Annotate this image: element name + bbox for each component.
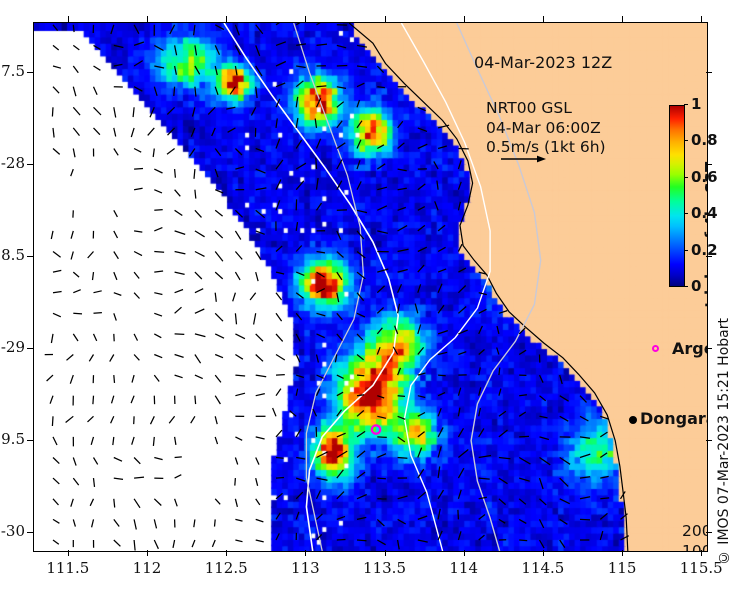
current-vector — [438, 305, 444, 313]
current-vector — [357, 451, 365, 458]
current-vector — [215, 293, 216, 302]
current-vector — [276, 430, 282, 437]
current-vector — [215, 519, 216, 526]
x-tick-4 — [385, 16, 386, 22]
current-vector — [357, 252, 365, 259]
current-vector — [167, 149, 175, 155]
current-vector — [296, 118, 298, 128]
current-vector — [357, 517, 366, 519]
current-vector — [175, 169, 176, 178]
current-vector — [357, 355, 364, 360]
current-vector — [357, 100, 360, 107]
current-vector — [114, 149, 118, 156]
current-vector — [600, 498, 609, 499]
x-tick-label-6: 114.5 — [513, 559, 573, 577]
current-vector — [296, 23, 304, 25]
current-vector — [317, 252, 326, 253]
colorbar-gradient — [669, 105, 685, 287]
current-vector — [296, 512, 299, 520]
current-vector — [276, 313, 282, 321]
current-vector — [316, 158, 317, 170]
current-vector — [89, 355, 93, 362]
current-vector — [215, 231, 223, 238]
current-vector — [458, 286, 465, 293]
current-vector — [438, 446, 441, 457]
current-vector — [580, 519, 590, 520]
current-vector — [317, 178, 319, 190]
current-vector — [438, 427, 443, 437]
current-vector — [418, 265, 424, 272]
current-vector — [195, 375, 203, 379]
current-vector — [479, 309, 487, 313]
current-vector — [540, 458, 551, 465]
current-vector — [215, 437, 217, 444]
current-vector — [296, 163, 306, 169]
current-vector — [377, 347, 380, 354]
current-vector — [212, 128, 216, 136]
current-vector — [479, 535, 485, 540]
current-vector — [276, 118, 277, 128]
current-vector — [154, 228, 162, 231]
current-vector — [192, 540, 195, 547]
current-vector — [479, 326, 483, 334]
current-vector — [73, 107, 80, 115]
current-vector — [154, 499, 161, 506]
current-vector — [175, 45, 177, 55]
current-vector — [418, 448, 422, 458]
current-vector — [317, 355, 319, 363]
current-vector — [73, 149, 75, 158]
current-vector — [296, 140, 301, 148]
current-vector — [398, 496, 408, 499]
current-vector — [195, 210, 202, 217]
current-vector — [580, 416, 588, 421]
current-vector — [398, 207, 406, 210]
x-tick-3 — [305, 550, 306, 556]
current-vector — [276, 83, 285, 87]
current-vector — [256, 272, 258, 281]
current-vector — [114, 540, 121, 546]
current-vector — [174, 87, 175, 96]
current-vector — [418, 492, 426, 499]
current-vector — [175, 457, 182, 458]
y-tick-label-1: -28 — [0, 154, 25, 172]
current-vector — [398, 437, 405, 442]
current-vector — [479, 350, 485, 355]
current-vector — [519, 519, 526, 523]
current-vector — [357, 160, 360, 169]
current-vector — [215, 334, 224, 338]
current-vector — [273, 408, 276, 416]
current-vector — [235, 272, 240, 280]
date-stamp-label: 04-Mar-2023 12Z — [474, 53, 612, 72]
current-vector — [499, 458, 511, 459]
current-vector — [256, 210, 265, 217]
current-vector — [94, 66, 101, 70]
current-vector — [337, 334, 343, 341]
current-vector — [458, 352, 466, 355]
current-vector — [256, 375, 267, 377]
current-vector — [519, 350, 526, 354]
current-vector — [398, 458, 408, 459]
colorbar-tick-label-2: 0.4 — [691, 204, 718, 222]
argo-float-position-marker[interactable] — [372, 425, 380, 433]
current-vector — [256, 394, 265, 396]
current-vector — [53, 270, 61, 272]
current-vector — [173, 540, 175, 548]
current-vector — [73, 66, 78, 73]
current-vector — [315, 119, 316, 128]
current-vector — [251, 107, 255, 115]
current-vector — [195, 334, 206, 337]
current-vector — [71, 499, 74, 507]
current-vector — [337, 87, 346, 89]
argo-marker-icon — [652, 345, 659, 352]
current-vector — [458, 450, 468, 458]
current-vector — [235, 149, 242, 156]
current-vector — [73, 272, 79, 277]
current-vector — [235, 25, 239, 36]
current-vector — [235, 540, 242, 542]
current-vector — [317, 139, 321, 149]
current-vector — [317, 272, 325, 277]
current-vector — [73, 458, 76, 466]
colorbar-tick-4 — [684, 140, 688, 141]
current-vector — [53, 66, 61, 68]
current-vector — [357, 334, 363, 340]
x-tick-label-2: 112.5 — [196, 559, 256, 577]
current-vector — [175, 355, 184, 358]
current-vector — [67, 355, 74, 361]
current-vector — [438, 284, 442, 293]
current-vector — [580, 477, 590, 478]
current-vector — [438, 247, 446, 251]
current-vector — [94, 87, 98, 95]
current-vector — [337, 392, 343, 396]
current-vector — [134, 61, 143, 66]
current-vector — [134, 458, 140, 464]
x-tick-1 — [147, 16, 148, 22]
current-vector — [479, 387, 481, 395]
y-tick-label-3: -29 — [0, 338, 25, 356]
current-vector — [357, 140, 361, 149]
depth-contour-200m-inner — [401, 23, 490, 551]
y-tick-2 — [27, 256, 33, 257]
current-vector — [114, 375, 115, 383]
current-vector — [337, 231, 341, 240]
depth-contour-legend: 200m 1000m — [682, 521, 708, 552]
current-vector — [66, 416, 74, 422]
current-vector — [600, 432, 607, 437]
current-vector — [296, 181, 304, 190]
current-vector — [132, 437, 134, 445]
current-vector — [53, 458, 59, 464]
current-vector — [73, 313, 82, 314]
current-vector — [88, 416, 94, 422]
current-vector — [357, 272, 365, 279]
current-vector — [296, 375, 304, 377]
current-vector — [438, 393, 445, 396]
current-vector — [540, 519, 544, 528]
current-vector — [175, 252, 186, 254]
current-vector — [418, 144, 428, 148]
current-vector — [215, 416, 217, 424]
current-vector — [337, 66, 348, 67]
current-vector — [195, 396, 196, 404]
current-vector — [337, 540, 346, 541]
current-vector — [276, 139, 280, 149]
current-vector — [357, 395, 364, 396]
current-vector — [195, 355, 201, 364]
current-vector — [94, 478, 95, 487]
current-vector — [458, 244, 462, 251]
current-vector — [276, 180, 281, 190]
current-vector — [377, 328, 382, 334]
current-vector — [134, 293, 139, 299]
colorbar-tick-label-3: 0.6 — [691, 168, 718, 186]
current-vector — [73, 519, 75, 526]
current-vector — [560, 416, 569, 421]
current-vector — [235, 313, 236, 324]
current-vector — [438, 146, 447, 149]
current-vector — [276, 62, 286, 67]
current-vector — [357, 83, 364, 87]
current-vector — [276, 334, 283, 342]
current-vector — [195, 272, 202, 279]
current-vector — [337, 375, 344, 378]
current-vector — [337, 470, 344, 478]
current-vector — [114, 64, 123, 66]
current-vector — [52, 107, 53, 116]
y-tick-4 — [27, 440, 33, 441]
current-vector — [357, 495, 367, 499]
current-vector — [418, 247, 427, 251]
current-vector — [519, 395, 527, 396]
current-vector — [235, 167, 244, 169]
x-tick-label-3: 113 — [275, 559, 335, 577]
current-vector — [134, 149, 141, 153]
current-vector — [438, 225, 445, 231]
current-vector — [167, 107, 174, 114]
current-vector — [114, 519, 119, 526]
x-tick-label-5: 114 — [434, 559, 494, 577]
current-vector — [175, 231, 186, 235]
current-vector — [296, 313, 302, 320]
current-vector — [418, 396, 426, 398]
current-vector — [276, 355, 285, 361]
current-vector — [132, 375, 134, 383]
current-vector — [560, 499, 570, 504]
current-vector — [256, 149, 264, 152]
current-vector — [50, 396, 53, 404]
y-tick-label-5: -30 — [0, 522, 25, 540]
current-vector — [215, 499, 220, 505]
current-vector — [73, 45, 79, 50]
current-vector — [256, 334, 263, 341]
map-plot-area[interactable]: 04-Mar-2023 12Z NRT00 GSL 04-Mar 06:00Z … — [33, 22, 708, 552]
current-vector — [276, 160, 283, 169]
colorbar-group — [669, 105, 685, 287]
current-vector — [458, 388, 460, 396]
current-vector — [256, 231, 265, 234]
current-vector — [191, 128, 195, 137]
current-vector — [195, 289, 203, 293]
current-vector — [226, 107, 235, 109]
current-vector — [215, 375, 221, 382]
current-vector — [377, 145, 384, 149]
current-vector — [458, 531, 461, 540]
current-vector — [154, 45, 163, 50]
current-vector — [458, 202, 460, 211]
current-vector — [418, 128, 427, 131]
current-vector — [418, 284, 421, 292]
current-vector — [357, 45, 367, 47]
current-vector — [256, 499, 260, 505]
current-vector — [111, 416, 114, 423]
current-vector — [499, 499, 506, 505]
current-vector — [215, 396, 220, 404]
current-vector — [235, 252, 242, 260]
current-vector — [256, 437, 265, 439]
current-vector — [337, 433, 346, 437]
current-vector — [296, 458, 305, 460]
current-vector — [377, 286, 384, 293]
current-vector — [114, 313, 117, 320]
current-vector — [51, 334, 53, 343]
current-vector — [377, 87, 385, 88]
current-vector — [418, 432, 425, 437]
current-vector — [154, 169, 162, 173]
current-vector — [499, 368, 500, 376]
x-tick-5 — [464, 550, 465, 556]
current-vector — [560, 458, 570, 465]
current-vector — [377, 478, 386, 479]
current-vector — [154, 66, 164, 68]
x-tick-8 — [701, 550, 702, 556]
current-vector — [458, 268, 466, 272]
current-vector — [600, 476, 608, 478]
y-tick-0 — [706, 72, 712, 73]
current-vector — [499, 430, 508, 437]
current-vector — [71, 231, 73, 239]
current-vector — [94, 458, 98, 465]
current-vector — [519, 478, 530, 481]
current-vector — [254, 313, 256, 324]
current-vector — [398, 396, 405, 397]
x-tick-1 — [147, 550, 148, 556]
current-vector — [134, 334, 137, 341]
current-vector — [154, 355, 162, 358]
current-vector — [296, 492, 303, 499]
current-vector — [235, 437, 242, 440]
current-vector — [112, 396, 114, 404]
current-vector — [190, 149, 195, 157]
current-vector — [175, 475, 182, 478]
current-vector — [540, 478, 544, 489]
current-vector — [290, 411, 297, 417]
current-vector — [398, 304, 400, 314]
current-vector — [398, 249, 409, 251]
current-vector — [434, 161, 438, 169]
current-vector — [418, 540, 428, 542]
current-vector — [195, 231, 205, 237]
current-vector — [73, 334, 78, 341]
current-vector — [154, 458, 162, 460]
current-vector — [256, 25, 263, 34]
current-vector — [418, 184, 426, 190]
current-vector — [153, 149, 154, 158]
current-vector — [600, 453, 607, 458]
current-vector — [47, 375, 53, 381]
current-vector — [398, 143, 405, 149]
current-vector — [313, 409, 317, 416]
current-vector — [256, 87, 257, 98]
current-vector — [194, 25, 195, 36]
current-vector — [215, 210, 222, 216]
current-vector — [215, 355, 223, 358]
x-tick-6 — [543, 550, 544, 556]
depth-1000m-label: 1000m — [682, 541, 708, 552]
current-vector — [479, 478, 490, 479]
current-vector — [560, 540, 565, 548]
current-vector — [73, 87, 76, 97]
current-vector — [296, 222, 297, 231]
current-vector — [52, 416, 53, 426]
current-vector — [93, 272, 94, 280]
current-vector — [175, 499, 178, 507]
current-vector — [357, 121, 362, 128]
current-vector — [71, 169, 74, 176]
current-vector — [276, 272, 284, 274]
current-vector — [276, 23, 285, 25]
current-vector — [191, 416, 195, 423]
y-tick-label-0: -27.5 — [0, 62, 25, 80]
y-tick-3 — [27, 348, 33, 349]
current-vector — [296, 389, 298, 396]
x-tick-label-4: 113.5 — [355, 559, 415, 577]
current-vector — [175, 290, 183, 293]
current-vector — [435, 201, 438, 210]
current-vector — [377, 206, 387, 211]
current-vector — [398, 169, 407, 171]
current-vector — [154, 540, 158, 549]
current-vector — [215, 87, 218, 95]
current-vector — [114, 458, 122, 462]
current-vector — [296, 66, 306, 68]
current-vector — [438, 467, 440, 479]
current-vector — [170, 25, 175, 34]
current-vector — [194, 169, 195, 179]
current-vector — [151, 416, 155, 424]
dongara-marker-icon — [629, 416, 637, 424]
current-vector — [458, 468, 464, 478]
current-vector — [235, 375, 245, 376]
current-vector — [337, 45, 346, 47]
current-vector — [94, 45, 101, 49]
current-vector — [212, 540, 215, 547]
current-vector — [337, 313, 343, 320]
current-vector — [175, 272, 185, 274]
x-tick-8 — [701, 16, 702, 22]
current-vector — [53, 313, 61, 317]
current-vector — [175, 307, 182, 313]
current-vector — [499, 311, 507, 314]
current-vector — [114, 210, 118, 217]
current-vector — [296, 478, 305, 481]
current-vector — [114, 478, 123, 479]
current-vector — [148, 128, 155, 135]
current-vector — [256, 458, 259, 465]
